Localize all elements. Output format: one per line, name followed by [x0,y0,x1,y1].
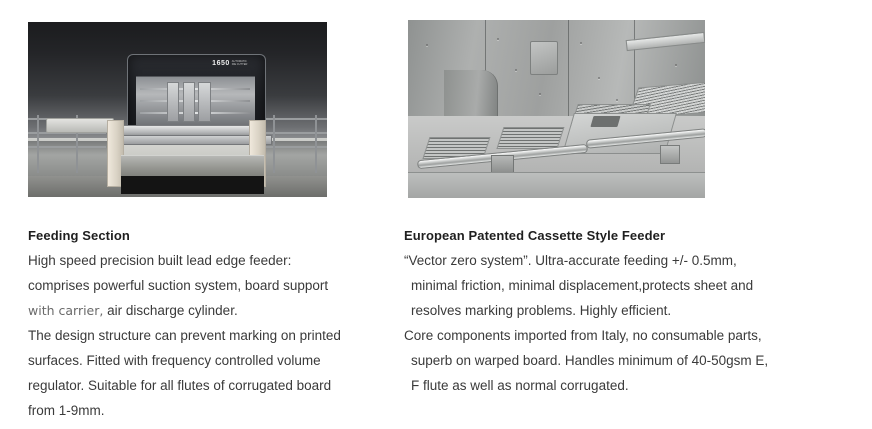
cassette-feeder-heading: European Patented Cassette Style Feeder [404,223,814,248]
cassette-feeder-line-1: “Vector zero system”. Ultra-accurate fee… [404,248,814,273]
feeding-section-photo: 1650AUTOMATICDIE CUTTER [28,22,327,197]
feeding-section-line-2: comprises powerful suction system, board… [28,273,378,298]
cassette-feeder-line-3: resolves marking problems. Highly effici… [404,298,814,323]
cassette-feeder-photo [408,20,705,198]
machine-model-number: 1650 [212,60,230,67]
cassette-feeder-line-2: minimal friction, minimal displacement,p… [404,273,814,298]
cassette-feeder-line-4: Core components imported from Italy, no … [404,323,814,348]
cassette-slot [591,116,621,127]
feeding-section-line-5: surfaces. Fitted with frequency controll… [28,348,378,373]
feeding-section-line-1: High speed precision built lead edge fee… [28,248,378,273]
photo-feeder-window [136,76,256,126]
cassette-feeder-caption: European Patented Cassette Style Feeder … [404,223,814,398]
feeding-section-line-3: with carrier, air discharge cylinder. [28,298,378,323]
photo-control-box [46,118,114,132]
feeding-section-caption: Feeding Section High speed precision bui… [28,223,378,423]
photo-base-plinth [121,176,265,194]
feeding-section-line-7: from 1-9mm. [28,398,378,423]
machine-model-label: 1650AUTOMATICDIE CUTTER [212,60,247,67]
feeding-section-line-4: The design structure can prevent marking… [28,323,378,348]
feeding-section-line-3-rest: air discharge cylinder. [103,303,237,318]
cassette-feeder-line-6: F flute as well as normal corrugated. [404,373,814,398]
cassette-vacuum-grille-2 [497,127,565,149]
cassette-wall-plate [530,41,559,75]
machine-model-subtitle: AUTOMATICDIE CUTTER [232,60,248,66]
cassette-rail-end-block [660,145,680,165]
photo-loading-deck [121,155,265,177]
product-feature-page: 1650AUTOMATICDIE CUTTER [0,0,872,429]
feeding-section-line-6: regulator. Suitable for all flutes of co… [28,373,378,398]
cassette-feeder-line-5: superb on warped board. Handles minimum … [404,348,814,373]
feeding-section-line-3-soft: with carrier, [28,303,103,318]
cassette-rail-carriage [491,155,514,173]
feeding-section-heading: Feeding Section [28,223,378,248]
cassette-front-edge [408,172,705,198]
